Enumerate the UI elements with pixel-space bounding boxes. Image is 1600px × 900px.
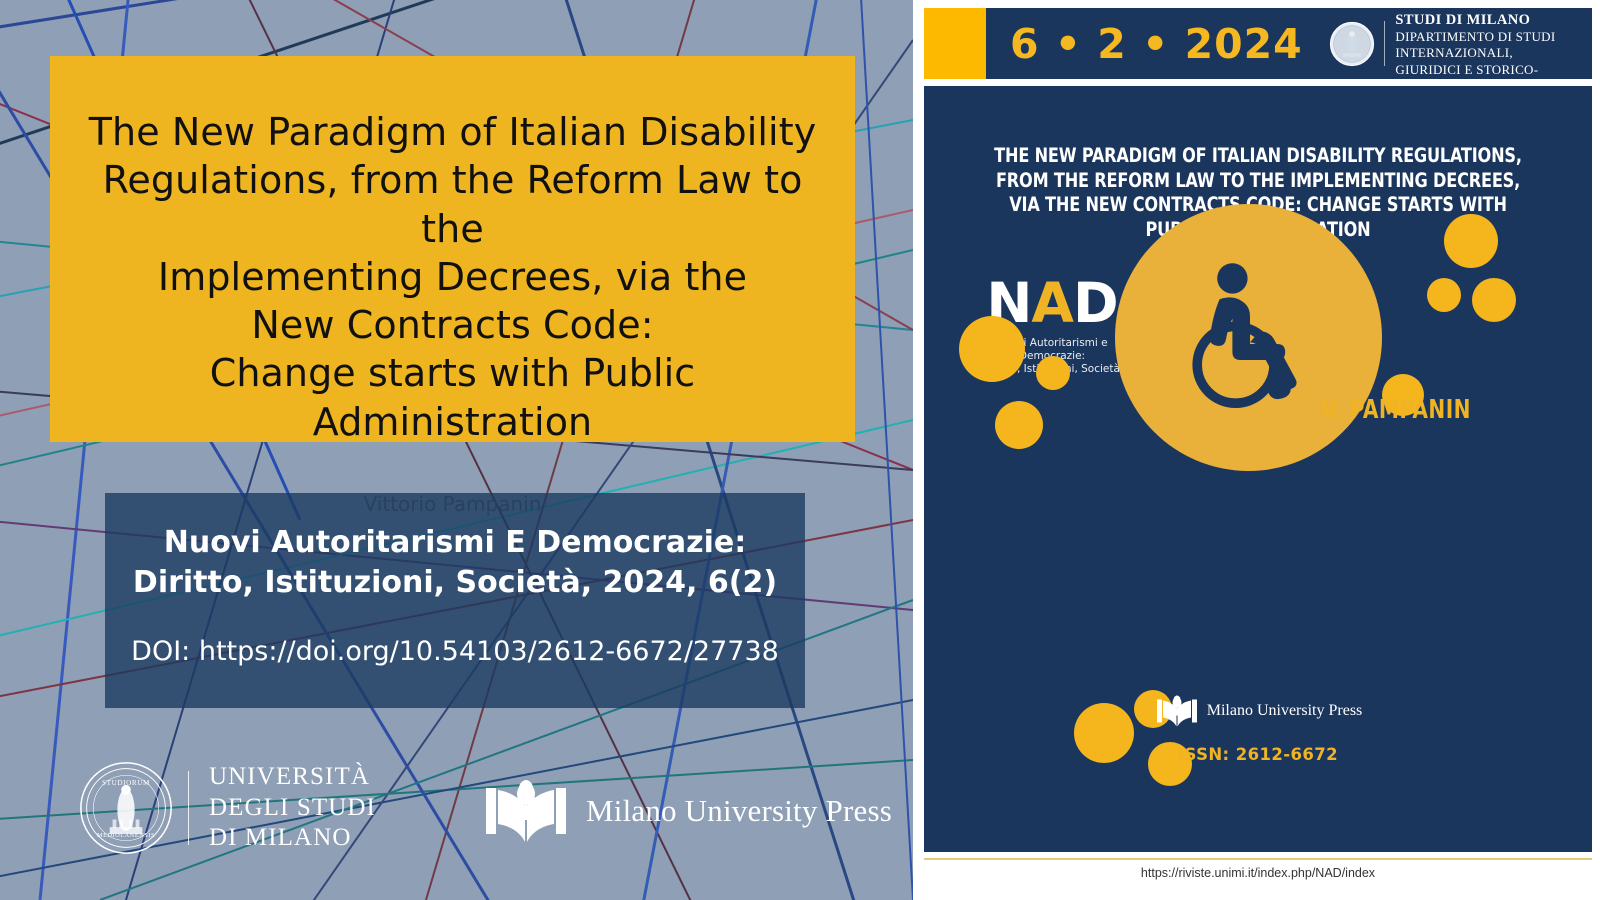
cover-author: V. PAMPANIN: [1293, 395, 1499, 425]
press-wordmark: Milano University Press: [586, 793, 892, 829]
unimi-line-2: DEGLI STUDI: [209, 793, 376, 824]
title-line-5: Change starts with Public Administration: [68, 349, 837, 446]
unimi-seal-icon-small: [1329, 21, 1375, 67]
left-panel: The New Paradigm of Italian Disability R…: [0, 0, 913, 900]
journal-line-1: Nuovi Autoritarismi E Democrazie:: [131, 523, 779, 563]
journal-cover-panel: 6 • 2 • 2024 UNIVERSITÀ DEGLI STUDI DI M…: [913, 0, 1600, 900]
header-gold-block: [924, 8, 986, 79]
poster-stage: The New Paradigm of Italian Disability R…: [0, 0, 1600, 900]
nad-letter-a: A: [1031, 271, 1073, 335]
title-line-2: Regulations, from the Reform Law to the: [68, 156, 837, 253]
issue-date: 6 • 2 • 2024: [1010, 20, 1303, 68]
cover-bottom-rule: [924, 858, 1592, 860]
doi-link[interactable]: DOI: https://doi.org/10.54103/2612-6672/…: [131, 636, 779, 667]
decorative-dot: [959, 316, 1025, 382]
cover-press-logo: Milano University Press: [924, 691, 1592, 731]
title-line-1: The New Paradigm of Italian Disability: [89, 108, 817, 156]
cover-department-line-1: DIPARTIMENTO DI STUDI INTERNAZIONALI,: [1395, 29, 1592, 62]
header-divider: [1384, 21, 1385, 66]
decorative-dot: [1036, 356, 1070, 390]
decorative-dot: [1427, 278, 1461, 312]
open-book-minerva-icon: [480, 772, 572, 850]
accessibility-circle: [1115, 204, 1382, 471]
footer-logos: STUDIORUM MEDIOLANENSIS UNIVERSITÀ DEGLI…: [0, 752, 913, 882]
decorative-dot: [995, 401, 1043, 449]
unimi-line-1: UNIVERSITÀ: [209, 762, 376, 793]
cover-artwork: THE NEW PARADIGM OF ITALIAN DISABILITY R…: [924, 86, 1592, 852]
unimi-line-3: DI MILANO: [209, 823, 376, 854]
decorative-dot: [1472, 278, 1516, 322]
issn-label: ISSN: 2612-6672: [924, 745, 1592, 764]
cover-university-name: UNIVERSITÀ DEGLI STUDI DI MILANO: [1395, 0, 1592, 29]
logo-divider: [188, 771, 189, 845]
title-card: The New Paradigm of Italian Disability R…: [50, 56, 855, 442]
cover-press-wordmark: Milano University Press: [1207, 702, 1363, 720]
open-book-minerva-icon-small: [1154, 691, 1200, 731]
journal-url[interactable]: https://riviste.unimi.it/index.php/NAD/i…: [924, 866, 1592, 880]
unimi-wordmark: UNIVERSITÀ DEGLI STUDI DI MILANO: [209, 762, 376, 854]
decorative-dot: [1444, 214, 1498, 268]
title-line-4: New Contracts Code:: [251, 301, 653, 349]
cover-university-block: UNIVERSITÀ DEGLI STUDI DI MILANO DIPARTI…: [1395, 0, 1592, 95]
wheelchair-icon: [1170, 256, 1330, 416]
nad-letter-d: D: [1073, 271, 1118, 335]
cover-header-bar: 6 • 2 • 2024 UNIVERSITÀ DEGLI STUDI DI M…: [924, 8, 1592, 79]
journal-line-2: Diritto, Istituzioni, Società, 2024, 6(2…: [131, 563, 779, 603]
publication-info-box: Nuovi Autoritarismi E Democrazie: Diritt…: [105, 493, 805, 708]
unimi-seal-icon: STUDIORUM MEDIOLANENSIS: [78, 760, 174, 856]
title-line-3: Implementing Decrees, via the: [158, 253, 747, 301]
unimi-logo: STUDIORUM MEDIOLANENSIS UNIVERSITÀ DEGLI…: [78, 760, 376, 856]
milano-university-press-logo: Milano University Press: [480, 772, 892, 850]
